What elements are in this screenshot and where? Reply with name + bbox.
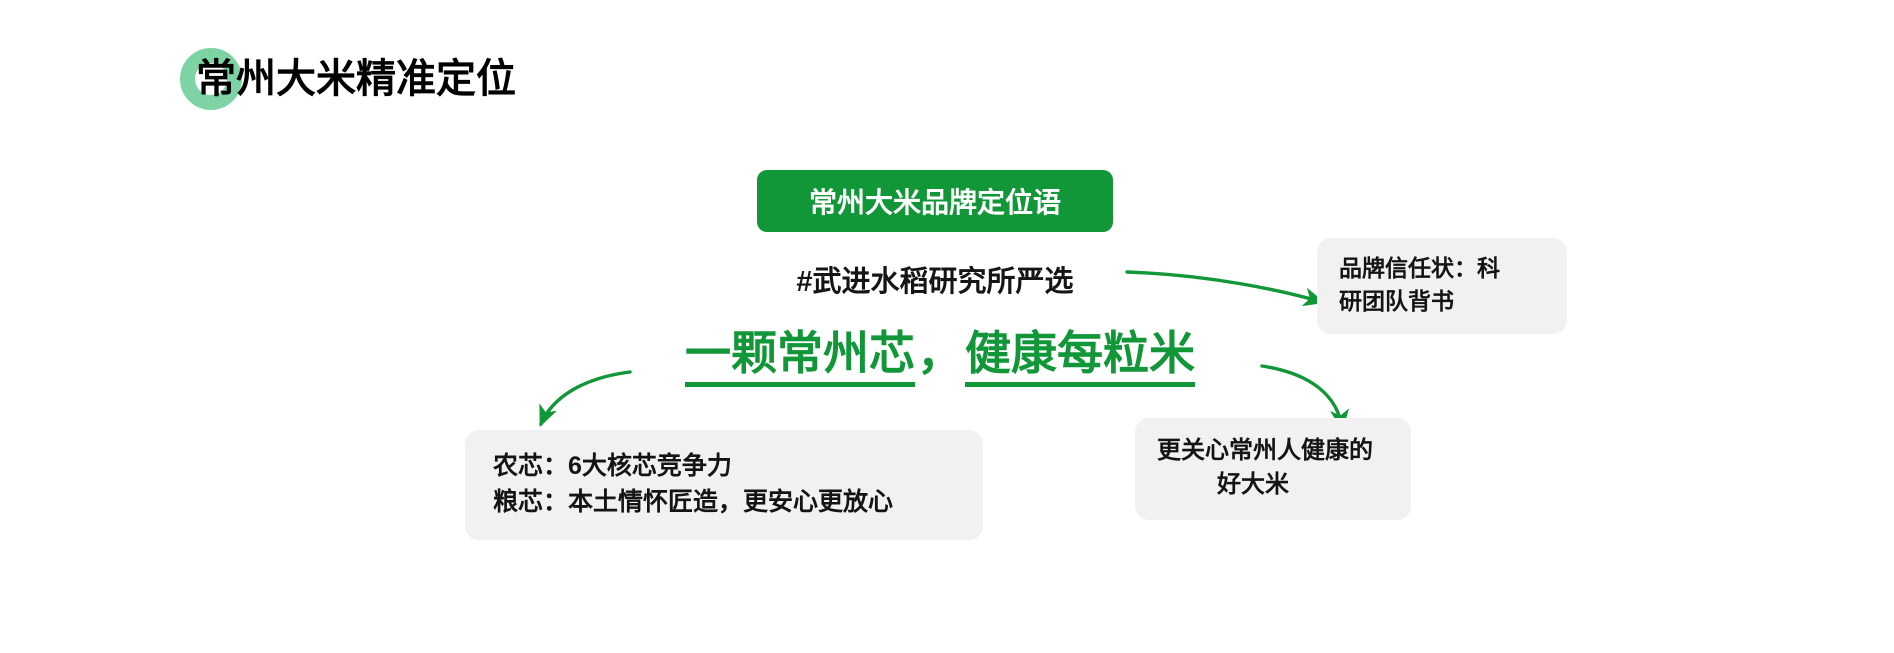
badge-label: 常州大米品牌定位语 <box>809 181 1061 221</box>
slogan-segment-1: 一颗常州芯 <box>685 327 915 387</box>
page-heading: 常州大米精准定位 <box>180 48 880 128</box>
callout-brand-trust: 品牌信任状：科 研团队背书 <box>1317 238 1567 334</box>
brand-positioning-badge: 常州大米品牌定位语 <box>757 170 1113 232</box>
hashtag-line: #武进水稻研究所严选 <box>757 258 1113 300</box>
arrow-slogan-to-core <box>541 372 630 424</box>
callout-health-line-2: 好大米 <box>1157 468 1391 502</box>
callout-core-line-2: 粮芯：本土情怀匠造，更安心更放心 <box>493 484 959 520</box>
slogan-separator: ， <box>915 327 965 379</box>
slide-canvas: 常州大米精准定位 常州大米品牌定位语 #武进水稻研究所严选 一颗常州芯，健康每粒… <box>0 0 1894 653</box>
callout-health-rice: 更关心常州人健康的 好大米 <box>1135 418 1411 520</box>
slogan-segment-2: 健康每粒米 <box>965 327 1195 387</box>
callout-health-line-1: 更关心常州人健康的 <box>1157 434 1391 468</box>
callout-brand-trust-line-1: 品牌信任状：科 <box>1339 252 1547 285</box>
arrow-hashtag-to-trust <box>1127 272 1322 302</box>
main-slogan: 一颗常州芯，健康每粒米 <box>630 325 1250 381</box>
callout-core-line-1: 农芯：6大核芯竞争力 <box>493 448 959 484</box>
callout-core-competitiveness: 农芯：6大核芯竞争力 粮芯：本土情怀匠造，更安心更放心 <box>465 430 983 540</box>
callout-brand-trust-line-2: 研团队背书 <box>1339 285 1547 318</box>
page-title: 常州大米精准定位 <box>196 51 516 107</box>
